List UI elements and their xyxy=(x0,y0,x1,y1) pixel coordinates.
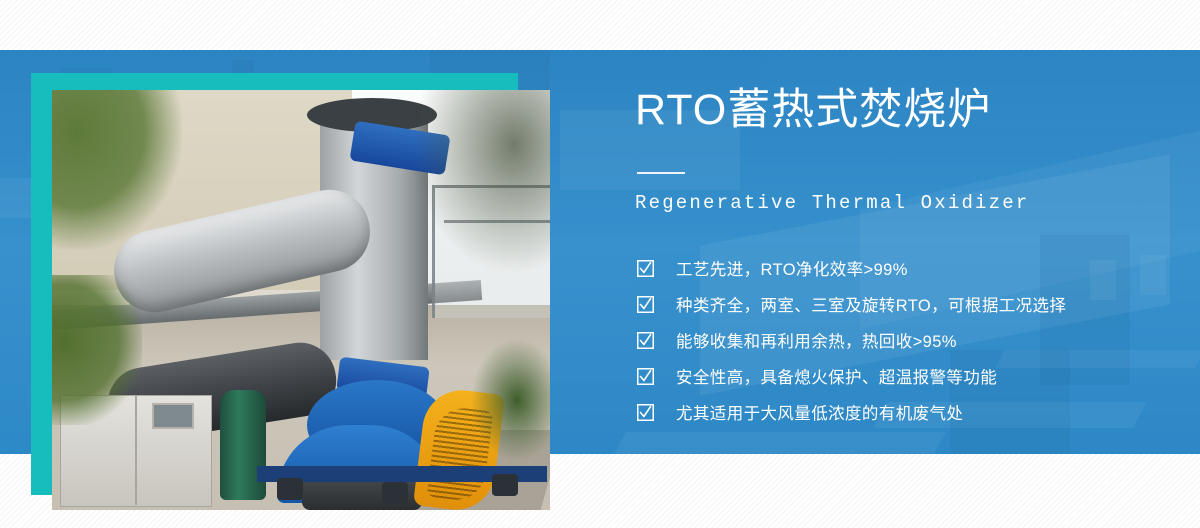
list-item: 尤其适用于大风量低浓度的有机废气处 xyxy=(637,394,1177,430)
product-photo xyxy=(52,90,550,510)
photo-foliage xyxy=(412,90,550,275)
page-subtitle: Regenerative Thermal Oxidizer xyxy=(635,192,1029,214)
checkbox-checked-icon xyxy=(637,296,654,313)
feature-text: 工艺先进，RTO净化效率>99% xyxy=(676,256,908,280)
photo-foliage xyxy=(52,90,182,250)
photo-foliage xyxy=(472,340,550,460)
list-item: 种类齐全，两室、三室及旋转RTO，可根据工况选择 xyxy=(637,286,1177,322)
photo-green-tank xyxy=(220,390,266,500)
feature-list: 工艺先进，RTO净化效率>99% 种类齐全，两室、三室及旋转RTO，可根据工况选… xyxy=(637,250,1177,430)
feature-text: 种类齐全，两室、三室及旋转RTO，可根据工况选择 xyxy=(676,292,1066,316)
checkbox-checked-icon xyxy=(637,404,654,421)
photo-cabinet-panel xyxy=(152,403,194,429)
feature-text: 尤其适用于大风量低浓度的有机废气处 xyxy=(676,400,963,424)
content-column: RTO蓄热式焚烧炉 Regenerative Thermal Oxidizer … xyxy=(635,50,1175,454)
checkbox-checked-icon xyxy=(637,332,654,349)
page-title: RTO蓄热式焚烧炉 xyxy=(635,88,991,133)
checkbox-checked-icon xyxy=(637,368,654,385)
photo-skid-foot xyxy=(382,482,408,504)
photo-foliage xyxy=(52,275,142,425)
feature-text: 能够收集和再利用余热，热回收>95% xyxy=(676,328,957,352)
photo-skid-foot xyxy=(492,474,518,496)
photo-skid-foot xyxy=(277,478,303,500)
product-banner: RTO蓄热式焚烧炉 Regenerative Thermal Oxidizer … xyxy=(0,0,1200,528)
list-item: 能够收集和再利用余热，热回收>95% xyxy=(637,322,1177,358)
title-divider xyxy=(637,172,685,174)
list-item: 工艺先进，RTO净化效率>99% xyxy=(637,250,1177,286)
feature-text: 安全性高，具备熄火保护、超温报警等功能 xyxy=(676,364,997,388)
list-item: 安全性高，具备熄火保护、超温报警等功能 xyxy=(637,358,1177,394)
checkbox-checked-icon xyxy=(637,260,654,277)
